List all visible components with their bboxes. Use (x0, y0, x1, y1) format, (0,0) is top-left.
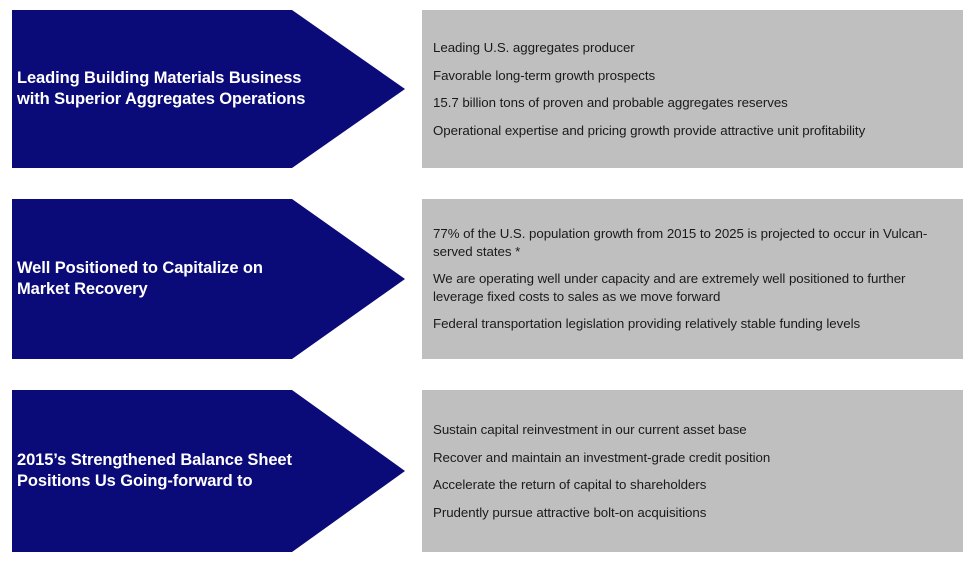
bullet-list-2: 77% of the U.S. population growth from 2… (422, 225, 963, 333)
arrow-banner-2: Well Positioned to Capitalize on Market … (12, 199, 405, 359)
list-item: Accelerate the return of capital to shar… (433, 476, 949, 494)
list-item: Favorable long-term growth prospects (433, 67, 949, 85)
arrow-title-2: Well Positioned to Capitalize on Market … (12, 258, 293, 300)
content-panel-2: 77% of the U.S. population growth from 2… (422, 199, 963, 359)
bullet-list-3: Sustain capital reinvestment in our curr… (422, 421, 963, 521)
arrow-title-1: Leading Building Materials Business with… (12, 68, 335, 110)
list-item: Recover and maintain an investment-grade… (433, 449, 949, 467)
list-item: We are operating well under capacity and… (433, 270, 949, 305)
slide-canvas: Leading Building Materials Business with… (0, 0, 970, 561)
list-item: Prudently pursue attractive bolt-on acqu… (433, 504, 949, 522)
bullet-list-1: Leading U.S. aggregates producer Favorab… (422, 39, 963, 139)
list-item: Sustain capital reinvestment in our curr… (433, 421, 949, 439)
content-panel-1: Leading U.S. aggregates producer Favorab… (422, 10, 963, 168)
list-item: Federal transportation legislation provi… (433, 315, 949, 333)
list-item: Leading U.S. aggregates producer (433, 39, 949, 57)
section-row-1: Leading Building Materials Business with… (0, 10, 970, 168)
arrow-title-3: 2015’s Strengthened Balance Sheet Positi… (12, 450, 322, 492)
list-item: 15.7 billion tons of proven and probable… (433, 94, 949, 112)
section-row-3: 2015’s Strengthened Balance Sheet Positi… (0, 390, 970, 552)
content-panel-3: Sustain capital reinvestment in our curr… (422, 390, 963, 552)
arrow-banner-1: Leading Building Materials Business with… (12, 10, 405, 168)
list-item: 77% of the U.S. population growth from 2… (433, 225, 949, 260)
section-row-2: Well Positioned to Capitalize on Market … (0, 199, 970, 359)
arrow-banner-3: 2015’s Strengthened Balance Sheet Positi… (12, 390, 405, 552)
list-item: Operational expertise and pricing growth… (433, 122, 949, 140)
